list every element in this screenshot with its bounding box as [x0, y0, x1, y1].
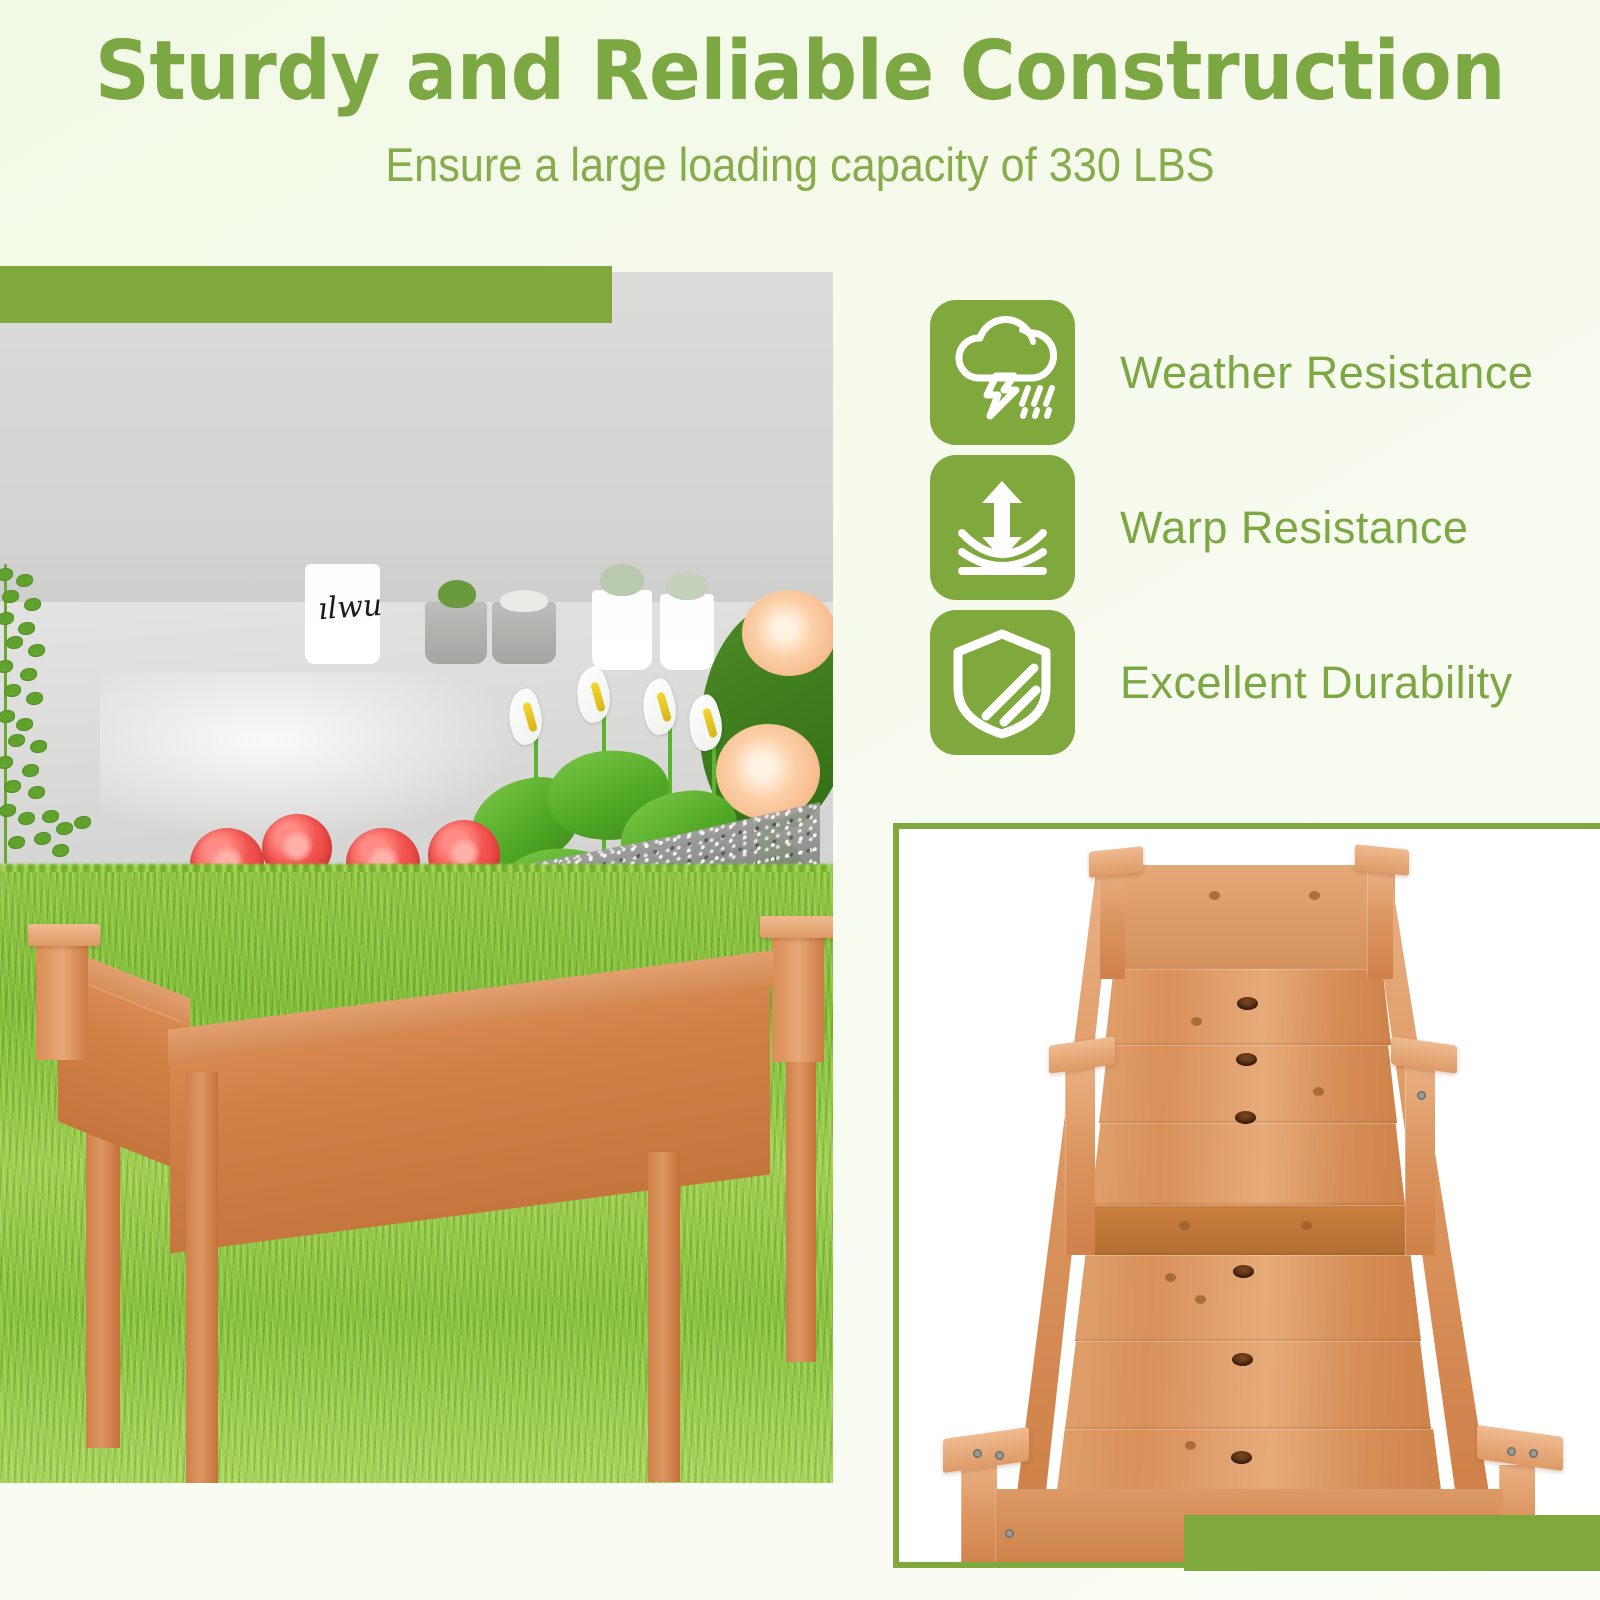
drainage-hole [1235, 1111, 1256, 1124]
succulent-pot-1 [425, 602, 487, 664]
drainage-hole [1231, 1451, 1252, 1464]
product-detail-panel [893, 823, 1600, 1568]
lifestyle-photo: ılwu [0, 272, 833, 1483]
corner-cap-near-right [1477, 1425, 1563, 1471]
corner-post-far-left [1099, 869, 1125, 979]
wood-knot [1191, 1017, 1202, 1026]
feature-item-weather-resistance: Weather Resistance [930, 300, 1570, 445]
wood-knot [1179, 1221, 1190, 1230]
succulent-1 [438, 580, 476, 608]
feature-item-warp-resistance: Warp Resistance [930, 455, 1570, 600]
succulent-2 [600, 564, 644, 596]
feature-item-excellent-durability: Excellent Durability [930, 610, 1570, 755]
wood-knot [1313, 1087, 1324, 1096]
screw [973, 1449, 982, 1458]
green-accent-bar-top [0, 266, 612, 323]
screw [1529, 1449, 1538, 1458]
product-interior-photo [899, 829, 1600, 1562]
planter-leg-right [648, 1152, 680, 1482]
planter-leg-back-right [786, 1062, 816, 1362]
corner-cap-near-left [943, 1427, 1029, 1473]
corner-cap-mid-left [1049, 1036, 1115, 1073]
up-down-arrow-flex-icon [930, 455, 1075, 600]
ivy-plant [0, 564, 90, 874]
succulent-3 [666, 572, 708, 600]
corner-cap-far-right [1355, 844, 1409, 876]
wood-knot [1209, 891, 1220, 900]
page-subtitle: Ensure a large loading capacity of 330 L… [64, 137, 1536, 192]
planter-post-left [36, 930, 88, 1060]
storm-cloud-rain-icon [930, 300, 1075, 445]
corner-post-mid-left [1065, 1065, 1095, 1255]
green-accent-bar-bottom [1184, 1515, 1600, 1571]
drainage-hole [1236, 1053, 1257, 1066]
header: Sturdy and Reliable Construction Ensure … [0, 0, 1600, 250]
feature-label-weather-resistance: Weather Resistance [1120, 347, 1533, 399]
peach-flower-1 [742, 590, 833, 676]
wood-knot [1195, 1295, 1206, 1304]
base-divider-board [1085, 1205, 1411, 1255]
wood-knot [1301, 1221, 1312, 1230]
corner-post-far-right [1367, 869, 1393, 979]
page-title: Sturdy and Reliable Construction [56, 24, 1544, 119]
drainage-hole [1232, 1353, 1253, 1366]
wood-knot [1165, 1273, 1176, 1282]
drainage-hole [1233, 1265, 1254, 1278]
wood-knot [1185, 1441, 1196, 1450]
planter-leg-mid [186, 1072, 218, 1483]
succulent-pot-4 [660, 594, 714, 670]
wood-knot [1309, 891, 1320, 900]
screw [1417, 1091, 1426, 1100]
succulent-pot-3 [592, 590, 652, 670]
planter-back-wall [1095, 865, 1395, 973]
shield-icon [930, 610, 1075, 755]
base-plank-3 [1091, 1123, 1405, 1205]
planter-cap-left [28, 924, 100, 946]
feature-label-excellent-durability: Excellent Durability [1120, 657, 1513, 709]
drainage-hole [1237, 997, 1258, 1010]
planter-cap-right [760, 916, 833, 938]
corner-post-near-left [961, 1465, 997, 1568]
feature-label-warp-resistance: Warp Resistance [1120, 502, 1468, 554]
screw [1507, 1447, 1516, 1456]
screw [1005, 1529, 1014, 1538]
pebble-fill [500, 590, 548, 612]
screw [995, 1451, 1004, 1460]
planter-post-right [772, 922, 824, 1062]
vase-script-text: ılwu [317, 588, 383, 627]
